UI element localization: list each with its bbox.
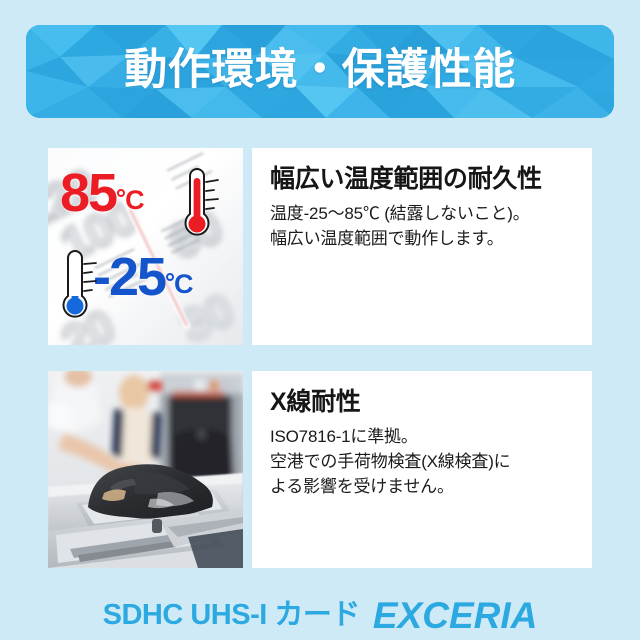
card-title: X線耐性: [270, 388, 576, 417]
airport-xray-security-photo: [48, 371, 243, 568]
footer-product-line: SDHC UHS-I カード: [103, 601, 360, 630]
thermometer-hot-icon: [180, 166, 222, 244]
header-banner: 動作環境・保護性能: [26, 25, 614, 118]
card-body-line: よる影響を受けません。: [270, 474, 576, 499]
card-body-line: 温度-25〜85℃ (結露しないこと)。: [270, 201, 576, 226]
checkpoint-illustration: [48, 371, 243, 568]
card-body-line: 幅広い温度範囲で動作します。: [270, 226, 576, 251]
degree-ring-icon: [166, 273, 174, 281]
header-title: 動作環境・保護性能: [26, 25, 614, 118]
celsius-letter: C: [174, 271, 194, 298]
card-text-panel: 幅広い温度範囲の耐久性 温度-25〜85℃ (結露しないこと)。 幅広い温度範囲…: [252, 148, 592, 345]
card-body: 温度-25〜85℃ (結露しないこと)。 幅広い温度範囲で動作します。: [270, 201, 576, 251]
cold-temperature-label: -25 C: [93, 254, 194, 302]
cold-temperature-value: -25: [93, 254, 165, 302]
degree-celsius-hot: C: [117, 187, 145, 214]
degree-celsius-cold: C: [166, 271, 194, 298]
hot-temperature-label: 85 C: [60, 170, 145, 218]
card-body-line: 空港での手荷物検査(X線検査)に: [270, 449, 576, 474]
thermometer-cold-icon: [58, 248, 100, 326]
card-text-panel: X線耐性 ISO7816-1に準拠。 空港での手荷物検査(X線検査)に よる影響…: [252, 371, 592, 568]
card-body: ISO7816-1に準拠。 空港での手荷物検査(X線検査)に よる影響を受けませ…: [270, 424, 576, 499]
hot-temperature-value: 85: [60, 170, 116, 218]
card-body-line: ISO7816-1に準拠。: [270, 424, 576, 449]
card-title: 幅広い温度範囲の耐久性: [270, 165, 576, 194]
thermometer-photo: 120 100 60 20 30: [48, 148, 243, 345]
card-temperature-durability: 120 100 60 20 30: [48, 148, 592, 345]
security-checkpoint-scene: [48, 371, 243, 568]
footer: SDHC UHS-I カード EXCERIA: [0, 592, 640, 638]
footer-brand-name: EXCERIA: [373, 597, 537, 634]
celsius-letter: C: [125, 187, 145, 214]
degree-ring-icon: [117, 189, 125, 197]
card-x-ray-resistance: X線耐性 ISO7816-1に準拠。 空港での手荷物検査(X線検査)に よる影響…: [48, 371, 592, 568]
